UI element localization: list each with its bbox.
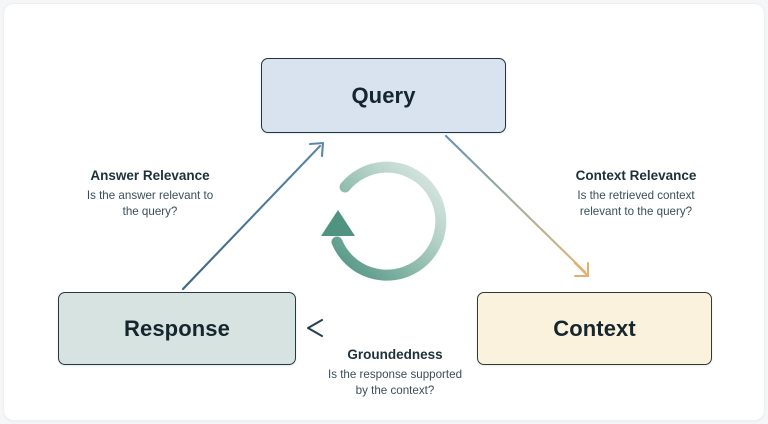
annotation-line: Is the retrieved context xyxy=(538,188,734,204)
annotation-groundedness-title: Groundedness xyxy=(292,347,498,364)
annotation-answer-relevance-title: Answer Relevance xyxy=(52,168,248,185)
annotation-context-relevance: Context Relevance Is the retrieved conte… xyxy=(538,168,734,220)
node-context-label: Context xyxy=(553,318,636,340)
annotation-line: by the context? xyxy=(292,383,498,399)
annotation-line: Is the response supported xyxy=(292,367,498,383)
node-query[interactable]: Query xyxy=(261,58,506,133)
annotation-context-relevance-subtitle: Is the retrieved context relevant to the… xyxy=(538,188,734,220)
node-context[interactable]: Context xyxy=(477,292,712,365)
diagram-canvas: Query Response Context Answer Relevance … xyxy=(0,0,768,424)
node-response[interactable]: Response xyxy=(58,292,296,365)
annotation-answer-relevance: Answer Relevance Is the answer relevant … xyxy=(52,168,248,220)
annotation-groundedness-subtitle: Is the response supported by the context… xyxy=(292,367,498,399)
node-query-label: Query xyxy=(351,85,415,107)
annotation-answer-relevance-subtitle: Is the answer relevant to the query? xyxy=(52,188,248,220)
annotation-context-relevance-title: Context Relevance xyxy=(538,168,734,185)
node-response-label: Response xyxy=(124,318,230,340)
annotation-groundedness: Groundedness Is the response supported b… xyxy=(292,347,498,399)
annotation-line: the query? xyxy=(52,204,248,220)
annotation-line: relevant to the query? xyxy=(538,204,734,220)
annotation-line: Is the answer relevant to xyxy=(52,188,248,204)
